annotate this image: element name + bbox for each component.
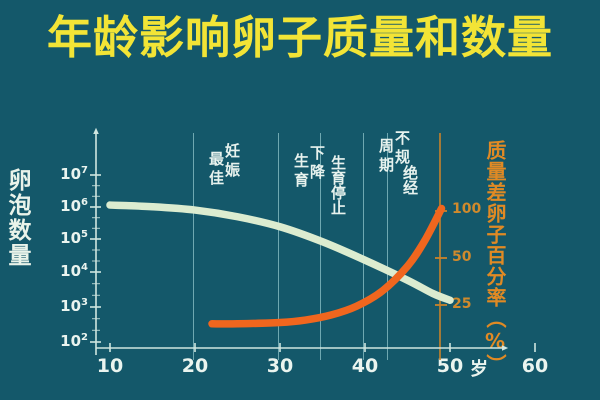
phase-divider-line bbox=[363, 133, 364, 360]
y-axis-right-tick-label: 100 bbox=[452, 202, 474, 217]
x-axis-tick-label: 60 bbox=[512, 355, 558, 377]
chart-canvas: 年龄影响卵子质量和数量 卵泡数量 质量差卵子百分率（%） 岁 107106105… bbox=[0, 0, 600, 400]
page-title: 年龄影响卵子质量和数量 bbox=[0, 10, 600, 66]
y-axis-left-label: 卵泡数量 bbox=[4, 168, 29, 268]
phase-label-column: 妊 娠 bbox=[225, 142, 240, 188]
phase-label-menopause: 绝经 bbox=[400, 165, 419, 195]
y-axis-right-tick-label: 50 bbox=[452, 249, 486, 265]
phase-label-column: 下 降 bbox=[310, 144, 325, 190]
x-axis-tick-label: 40 bbox=[342, 355, 388, 377]
x-axis-tick-label: 50 bbox=[427, 355, 473, 377]
y-axis-left-tick-label: 102 bbox=[42, 332, 88, 350]
x-axis-tick-label: 10 bbox=[87, 355, 133, 377]
y-axis-left-tick-label: 104 bbox=[42, 262, 88, 280]
y-axis-right-tick-label: 25 bbox=[452, 296, 486, 312]
phase-label-column: 最 佳 bbox=[209, 150, 224, 188]
y-axis-right-label: 质量差卵子百分率（%） bbox=[484, 140, 505, 375]
phase-label-fertility-decline: 生 育下 降 bbox=[285, 152, 325, 192]
y-axis-left-tick-marks bbox=[90, 175, 101, 342]
curve-follicle-count bbox=[110, 205, 450, 300]
phase-label-fertility-stop: 生育停止 bbox=[328, 155, 347, 215]
phase-label-column: 周 期 bbox=[379, 137, 394, 175]
x-axis-tick-marks bbox=[110, 343, 535, 352]
y-axis-left-tick-label: 107 bbox=[42, 165, 88, 183]
phase-label-columns: 最 佳妊 娠 bbox=[209, 150, 240, 188]
y-axis-left-tick-label: 106 bbox=[42, 197, 88, 215]
y-axis-right-tick-marks bbox=[435, 211, 447, 305]
phase-label-columns: 生 育下 降 bbox=[294, 152, 325, 190]
phase-label-column: 生 育 bbox=[294, 152, 309, 190]
y-axis-left-tick-label: 105 bbox=[42, 229, 88, 247]
y-axis-left-tick-label: 103 bbox=[42, 297, 88, 315]
phase-divider-line bbox=[193, 133, 194, 360]
phase-label-best-pregnancy: 最 佳妊 娠 bbox=[200, 150, 240, 190]
phase-divider-line bbox=[278, 133, 279, 360]
curve-poor-quality-percent bbox=[212, 208, 442, 323]
x-axis-tick-label: 30 bbox=[257, 355, 303, 377]
x-axis-tick-label: 20 bbox=[172, 355, 218, 377]
